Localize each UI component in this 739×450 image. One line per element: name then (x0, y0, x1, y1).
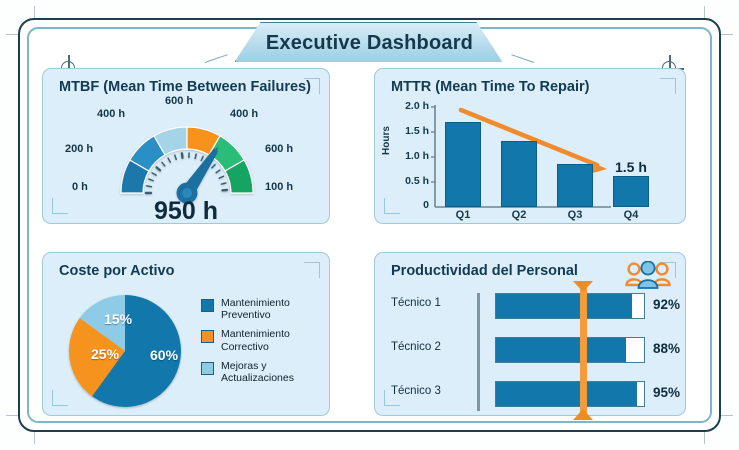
mttr-bar-q4 (613, 176, 649, 207)
dashboard-canvas: Executive Dashboard MTBF (Mean Time Betw… (0, 0, 739, 450)
target-marker-arrow-top (573, 281, 593, 292)
gauge-tick-label: 600 h (165, 95, 193, 107)
legend-label: Mejoras y Actualizaciones (221, 360, 327, 384)
mttr-bar-q2 (501, 141, 537, 208)
mttr-annotation: 1.5 h (615, 159, 647, 175)
target-marker-line (580, 286, 587, 418)
mttr-bar-q1 (445, 122, 481, 207)
pie-legend: Mantenimiento Preventivo Mantenimiento C… (201, 297, 327, 391)
legend-label: Mantenimiento Correctivo (221, 328, 327, 352)
progress-fill (496, 294, 632, 318)
banner-connector-left-slant (205, 54, 228, 63)
banner-connector-right-slant (511, 54, 534, 63)
mttr-x-tick: Q2 (501, 209, 537, 221)
legend-label: Mantenimiento Preventivo (221, 297, 327, 321)
panel-coste-por-activo: Coste por Activo 60% 25% 15% Mantenimien… (42, 252, 330, 416)
row-label: Técnico 3 (391, 385, 441, 397)
panel-mttr: MTTR (Mean Time To Repair) Hours 2.0 h 1… (374, 68, 686, 224)
gauge-chart-mtbf: 0 h 200 h 400 h 600 h 400 h 600 h 100 h … (43, 93, 329, 225)
gauge-tick-label: 600 h (265, 143, 293, 155)
mttr-x-tick: Q4 (613, 209, 649, 221)
legend-item-preventivo: Mantenimiento Preventivo (201, 297, 327, 321)
gauge-tick-label: 0 h (72, 181, 88, 193)
pie-slice-label-correctivo: 25% (91, 346, 119, 362)
bar-chart-mttr: Hours 2.0 h 1.5 h 1.0 h 0.5 h 0 (375, 69, 685, 223)
panel-mtbf: MTBF (Mean Time Between Failures) (42, 68, 330, 224)
target-marker-arrow-bottom (573, 409, 593, 420)
progress-track (495, 337, 645, 363)
legend-item-correctivo: Mantenimiento Correctivo (201, 328, 327, 352)
progress-track (495, 293, 645, 319)
corner-bracket (304, 262, 320, 278)
mttr-x-tick: Q3 (557, 209, 593, 221)
progress-track (495, 381, 645, 407)
mttr-bar-q3 (557, 164, 593, 208)
legend-swatch-icon (201, 362, 214, 375)
row-value: 88% (653, 341, 680, 356)
pie-slice-label-preventivo: 60% (150, 347, 178, 363)
productividad-row-tecnico-1: Técnico 1 92% (391, 293, 681, 319)
gauge-tick-label: 200 h (65, 143, 93, 155)
row-label: Técnico 1 (391, 297, 441, 309)
productividad-row-tecnico-3: Técnico 3 95% (391, 381, 681, 407)
panel-productividad-title: Productividad del Personal (391, 263, 578, 279)
productividad-row-tecnico-2: Técnico 2 88% (391, 337, 681, 363)
legend-item-mejoras: Mejoras y Actualizaciones (201, 360, 327, 384)
panel-coste-title: Coste por Activo (59, 263, 174, 279)
page-title: Executive Dashboard (266, 32, 473, 55)
corner-bracket (52, 390, 68, 406)
row-value: 95% (653, 385, 680, 400)
legend-swatch-icon (201, 330, 214, 343)
row-value: 92% (653, 297, 680, 312)
gauge-value-mtbf: 950 h (43, 197, 329, 226)
mttr-x-tick: Q1 (445, 209, 481, 221)
corner-bracket (304, 78, 320, 94)
row-label: Técnico 2 (391, 341, 441, 353)
people-group-icon (625, 261, 671, 291)
legend-swatch-icon (201, 299, 214, 312)
panel-productividad: Productividad del Personal Técnico 1 92%… (374, 252, 686, 416)
gauge-tick-label: 100 h (265, 181, 293, 193)
progress-fill (496, 338, 626, 362)
dashboard-title-banner: Executive Dashboard (235, 22, 505, 64)
gauge-tick-label: 400 h (230, 108, 258, 120)
pie-slice-label-mejoras: 15% (104, 311, 132, 327)
gauge-tick-label: 400 h (97, 108, 125, 120)
progress-fill (496, 382, 637, 406)
